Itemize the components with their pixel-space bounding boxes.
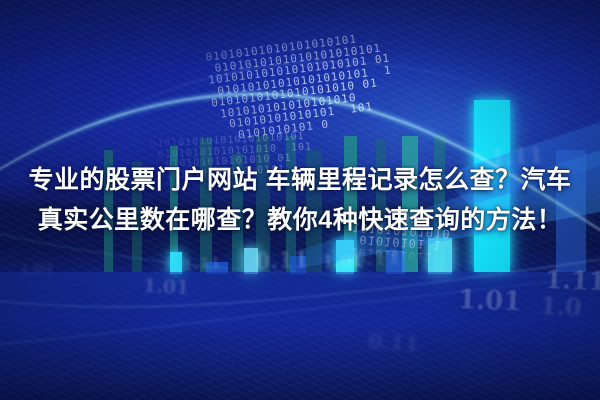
banner-image: 01010101010101010101 0101010101010101010…: [0, 0, 600, 400]
headline: 专业的股票门户网站 车辆里程记录怎么查？汽车 真实公里数在哪查？教你4种快速查询…: [0, 160, 600, 240]
headline-line-2: 真实公里数在哪查？教你4种快速查询的方法！: [14, 200, 586, 240]
headline-line-1: 专业的股票门户网站 车辆里程记录怎么查？汽车: [14, 160, 586, 200]
